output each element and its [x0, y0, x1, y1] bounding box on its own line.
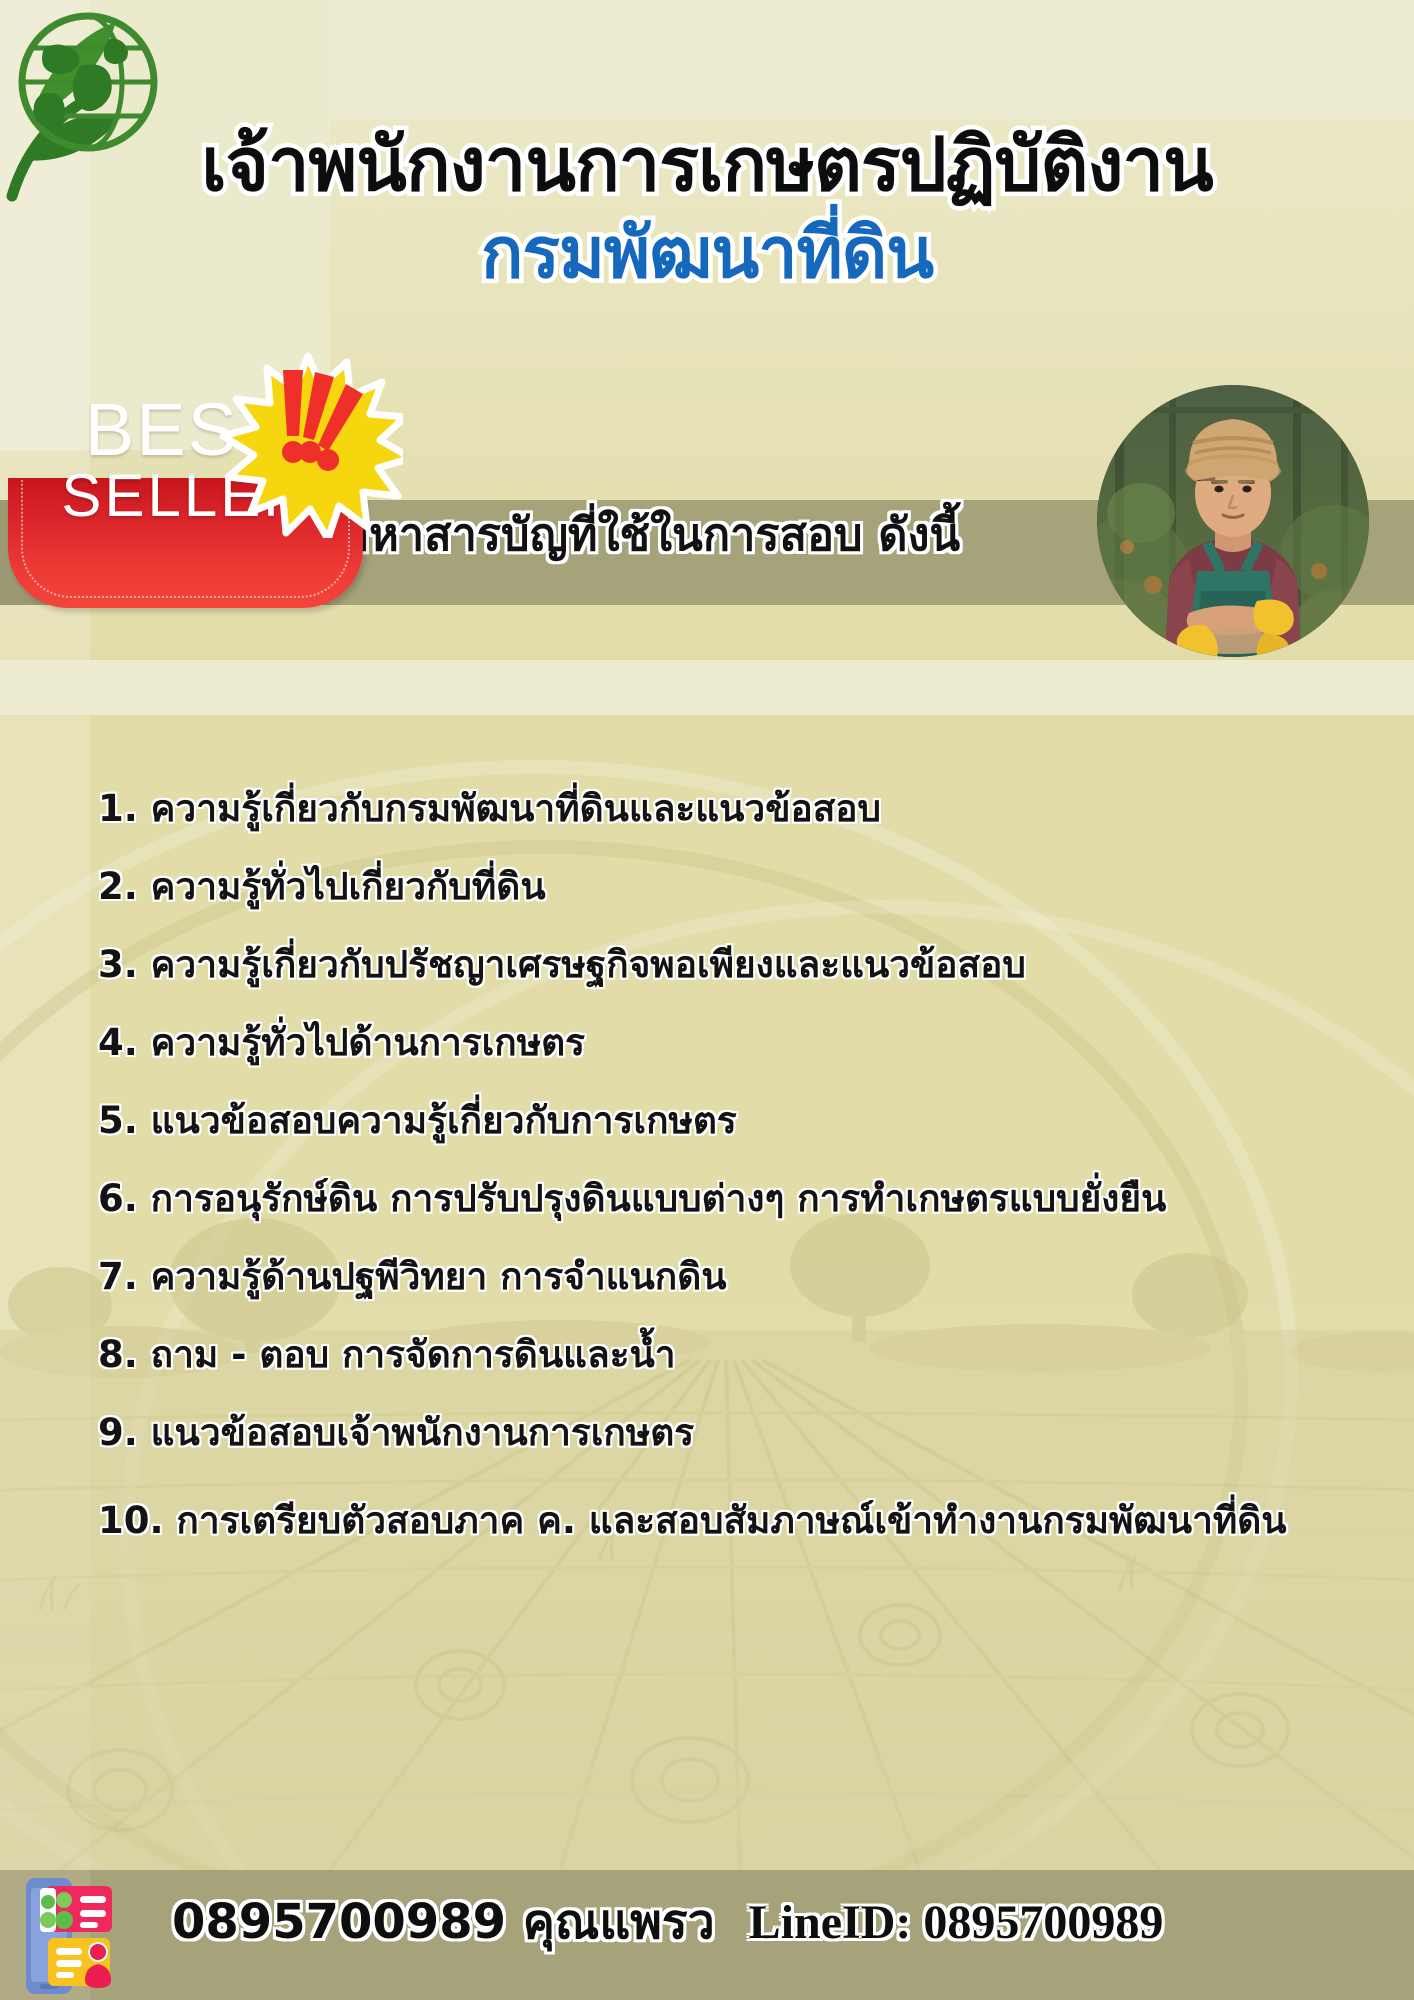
syllabus-list: 1. ความรู้เกี่ยวกับกรมพัฒนาที่ดินและแนวข…: [98, 790, 1348, 1590]
footer-lineid: LineID: 0895700989: [749, 1896, 1164, 1949]
contact-card-icon: [20, 1876, 150, 1996]
footer-phone: 0895700989 คุณแพรว: [172, 1894, 715, 1950]
list-item: 1. ความรู้เกี่ยวกับกรมพัฒนาที่ดินและแนวข…: [98, 790, 1348, 827]
contact-footer: 0895700989 คุณแพรวLineID: 0895700989: [0, 1870, 1414, 2000]
list-item: 2. ความรู้ทั่วไปเกี่ยวกับที่ดิน: [98, 868, 1348, 905]
list-item: 6. การอนุรักษ์ดิน การปรับปรุงดินแบบต่างๆ…: [98, 1180, 1348, 1217]
list-item: 10. การเตรียบตัวสอบภาค ค. และสอบสัมภาษณ์…: [98, 1492, 1348, 1549]
poster-root: เจ้าพนักงานการเกษตรปฏิบัติงาน กรมพัฒนาที…: [0, 0, 1414, 2000]
heading-block: เจ้าพนักงานการเกษตรปฏิบัติงาน กรมพัฒนาที…: [0, 128, 1414, 291]
list-item: 3. ความรู้เกี่ยวกับปรัชญาเศรษฐกิจพอเพียง…: [98, 946, 1348, 983]
footer-contact-text: 0895700989 คุณแพรวLineID: 0895700989: [172, 1896, 1163, 1950]
list-item: 5. แนวข้อสอบความรู้เกี่ยวกับการเกษตร: [98, 1102, 1348, 1139]
best-seller-badge: BEST SELLER: [8, 478, 363, 608]
list-item: 9. แนวข้อสอบเจ้าพนักงานการเกษตร: [98, 1414, 1348, 1451]
list-item: 4. ความรู้ทั่วไปด้านการเกษตร: [98, 1024, 1348, 1061]
list-item: 8. ถาม - ตอบ การจัดการดินและน้ำ: [98, 1336, 1348, 1373]
starburst-exclamation-icon: [213, 348, 403, 538]
background-mid-band: [0, 660, 1414, 715]
farmer-photo-avatar: [1097, 385, 1369, 657]
page-subtitle: กรมพัฒนาที่ดิน: [0, 217, 1414, 291]
list-item: 7. ความรู้ด้านปฐพีวิทยา การจำแนกดิน: [98, 1258, 1348, 1295]
page-title: เจ้าพนักงานการเกษตรปฏิบัติงาน: [0, 128, 1414, 203]
